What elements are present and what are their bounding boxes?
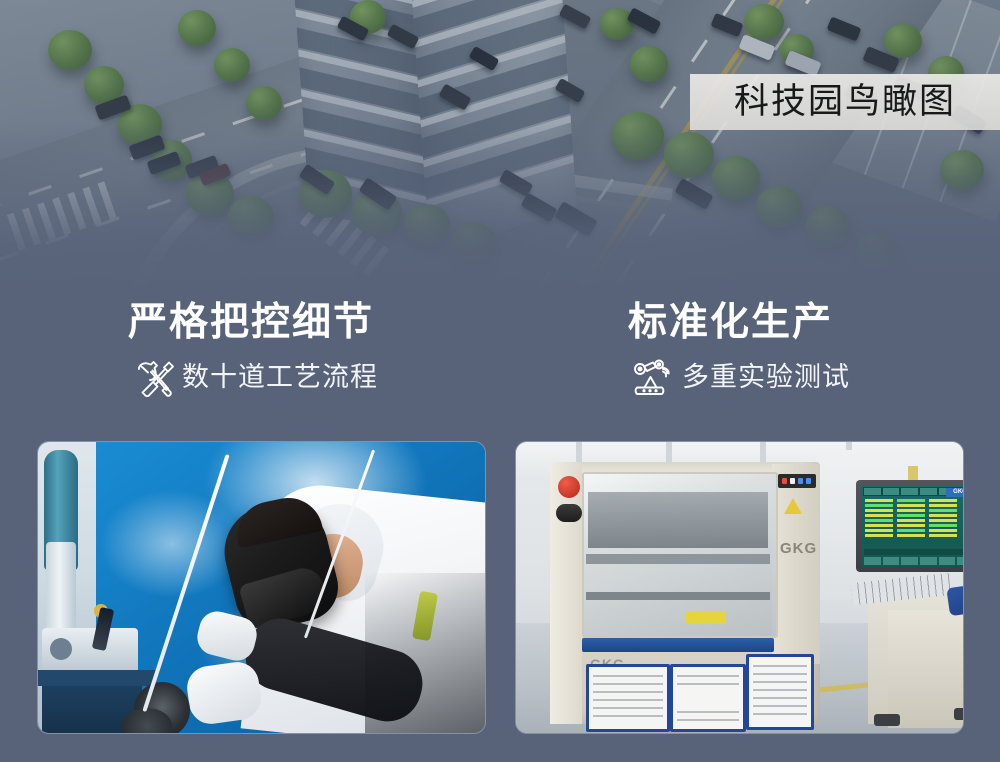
process-document bbox=[586, 664, 670, 732]
feature-subtitle: 多重实验测试 bbox=[682, 364, 850, 391]
feature-standardized-production: 标准化生产 bbox=[628, 300, 850, 398]
emergency-stop-button[interactable] bbox=[558, 476, 580, 498]
photo-shadow bbox=[365, 573, 485, 733]
screen-brand-label: GKG bbox=[946, 488, 963, 497]
feature-subtitle-row: 多重实验测试 bbox=[628, 356, 850, 398]
status-indicator-lights bbox=[778, 474, 816, 488]
process-document bbox=[670, 664, 746, 732]
hero-title-text: 科技园鸟瞰图 bbox=[734, 85, 956, 120]
gkg-smt-printer-photo: GKG GKG bbox=[516, 442, 963, 733]
feature-title: 严格把控细节 bbox=[128, 300, 378, 346]
printer-rail bbox=[586, 592, 770, 600]
feature-strict-detail-control: 严格把控细节 bbox=[128, 300, 378, 398]
monitor-screen[interactable]: GKG bbox=[861, 485, 963, 567]
feature-row: 严格把控细节 bbox=[0, 300, 1000, 420]
printer-rail bbox=[586, 554, 770, 564]
feature-subtitle-row: 数十道工艺流程 bbox=[128, 356, 378, 398]
hero-fade-overlay bbox=[0, 120, 1000, 290]
bench-machine bbox=[42, 628, 138, 674]
hazard-triangle-icon bbox=[784, 498, 802, 514]
warning-label bbox=[686, 612, 726, 624]
control-knob[interactable] bbox=[556, 504, 582, 522]
printer-blue-accent-bar bbox=[582, 638, 774, 652]
printer-left-column bbox=[550, 462, 582, 724]
control-cabinet bbox=[888, 610, 963, 728]
control-monitor: GKG bbox=[856, 480, 963, 572]
workbench-top bbox=[38, 670, 156, 686]
feature-subtitle: 数十道工艺流程 bbox=[182, 364, 378, 391]
printer-head-assembly bbox=[588, 492, 768, 548]
welding-workshop-photo bbox=[38, 442, 485, 733]
hammer-screwdriver-icon bbox=[128, 356, 182, 398]
aerial-tech-park-photo bbox=[0, 0, 1000, 290]
brand-logo: GKG bbox=[780, 540, 817, 557]
hero-title-banner: 科技园鸟瞰图 bbox=[690, 74, 1000, 130]
hero-section: 科技园鸟瞰图 bbox=[0, 0, 1000, 290]
promo-page: 科技园鸟瞰图 严格把控细节 bbox=[0, 0, 1000, 762]
feature-title: 标准化生产 bbox=[628, 300, 850, 346]
robot-arm-icon bbox=[628, 356, 682, 398]
printer-right-column bbox=[772, 464, 820, 664]
photo-row: GKG GKG bbox=[0, 442, 1000, 734]
process-document bbox=[746, 654, 814, 730]
